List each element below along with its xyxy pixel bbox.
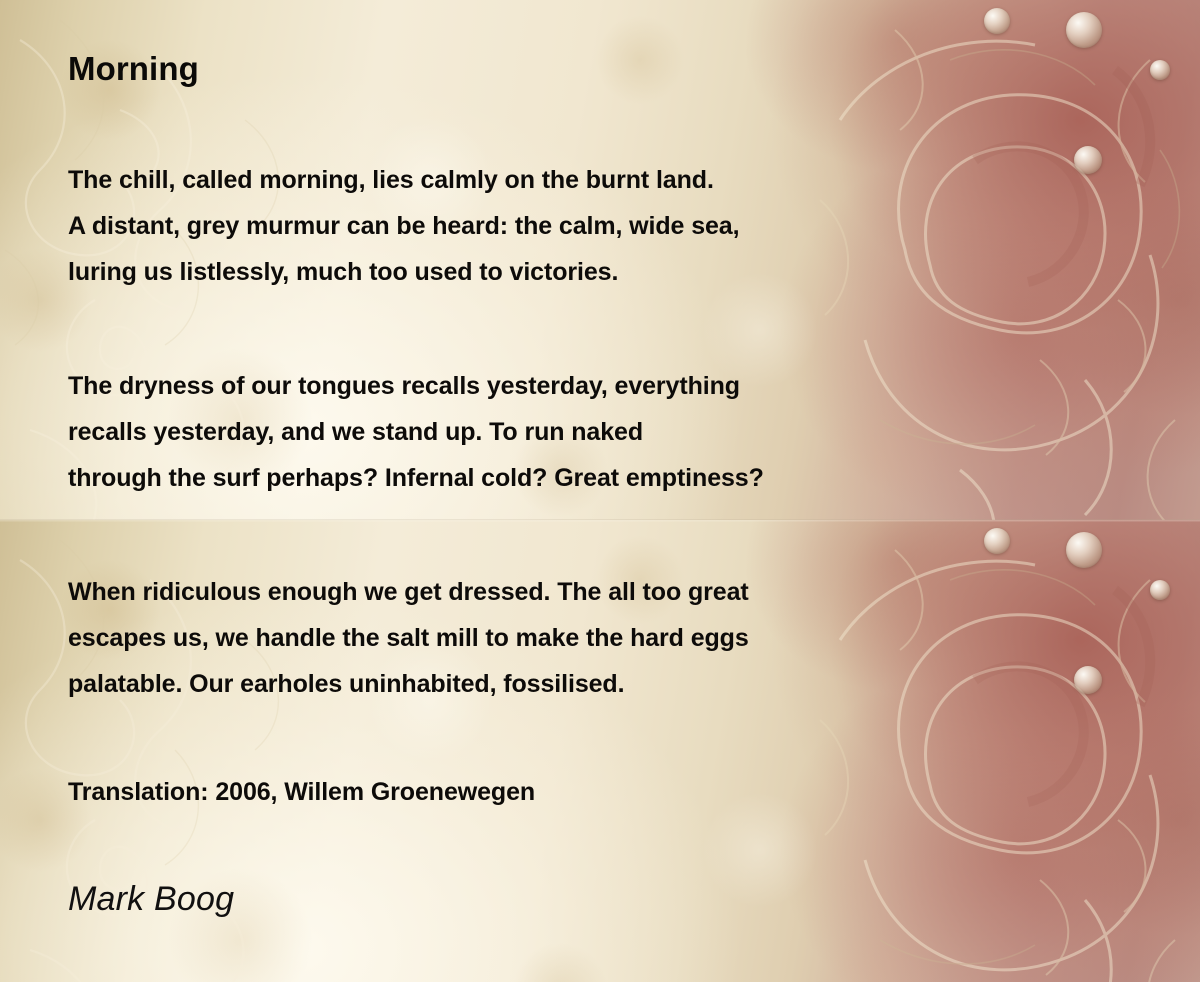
translation-credit: Translation: 2006, Willem Groenewegen [68, 778, 535, 807]
poem-card: Morning The chill, called morning, lies … [0, 0, 1200, 982]
poem-line: palatable. Our earholes uninhabited, fos… [68, 661, 749, 707]
poem-line: recalls yesterday, and we stand up. To r… [68, 409, 764, 455]
poem-line: The chill, called morning, lies calmly o… [68, 157, 739, 203]
page-title: Morning [68, 50, 199, 88]
poem-line: When ridiculous enough we get dressed. T… [68, 569, 749, 615]
poem-line: luring us listlessly, much too used to v… [68, 249, 739, 295]
stanza-1: The chill, called morning, lies calmly o… [68, 157, 739, 295]
poem-line: escapes us, we handle the salt mill to m… [68, 615, 749, 661]
author-name: Mark Boog [68, 880, 234, 919]
poem-line: through the surf perhaps? Infernal cold?… [68, 455, 764, 501]
stanza-2: The dryness of our tongues recalls yeste… [68, 363, 764, 501]
poem-line: A distant, grey murmur can be heard: the… [68, 203, 739, 249]
poem-line: The dryness of our tongues recalls yeste… [68, 363, 764, 409]
poem-content: Morning The chill, called morning, lies … [0, 0, 1200, 982]
stanza-3: When ridiculous enough we get dressed. T… [68, 569, 749, 707]
